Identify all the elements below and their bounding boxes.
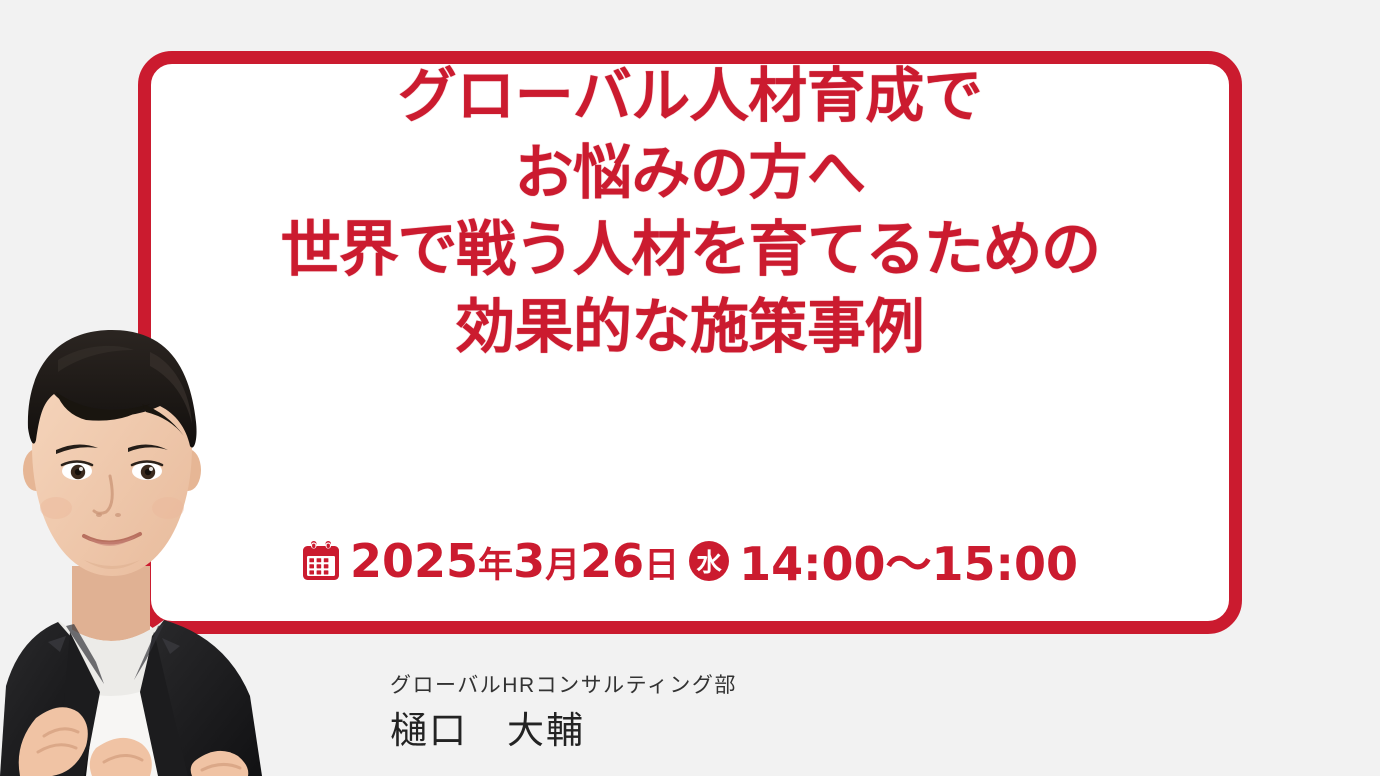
presenter-caption: グローバルHRコンサルティング部 樋口 大輔 xyxy=(390,670,737,755)
headline-line-1: グローバル人材育成で xyxy=(0,58,1380,135)
headline-block: グローバル人材育成で お悩みの方へ 世界で戦う人材を育てるための 効果的な施策事… xyxy=(0,58,1380,366)
event-month: 3 xyxy=(513,534,545,588)
datetime-row: 2025年3月26日 水 14:00〜15:00 xyxy=(0,528,1380,594)
headline-line-4: 効果的な施策事例 xyxy=(0,289,1380,366)
event-year-unit: 年 xyxy=(478,546,513,586)
calendar-icon xyxy=(302,541,340,581)
day-of-week-badge: 水 xyxy=(689,541,729,581)
event-day-unit: 日 xyxy=(644,546,679,586)
presenter-name: 樋口 大輔 xyxy=(390,707,737,755)
webinar-title-slide: グローバル人材育成で お悩みの方へ 世界で戦う人材を育てるための 効果的な施策事… xyxy=(0,0,1380,776)
presenter-department: グローバルHRコンサルティング部 xyxy=(390,670,737,702)
event-time: 14:00〜15:00 xyxy=(739,528,1078,594)
headline-line-3: 世界で戦う人材を育てるための xyxy=(0,211,1380,289)
headline-line-2: お悩みの方へ xyxy=(0,135,1380,212)
event-year: 2025 xyxy=(350,534,478,588)
event-date: 2025年3月26日 xyxy=(350,534,679,588)
event-day: 26 xyxy=(580,534,644,588)
event-month-unit: 月 xyxy=(545,546,580,586)
